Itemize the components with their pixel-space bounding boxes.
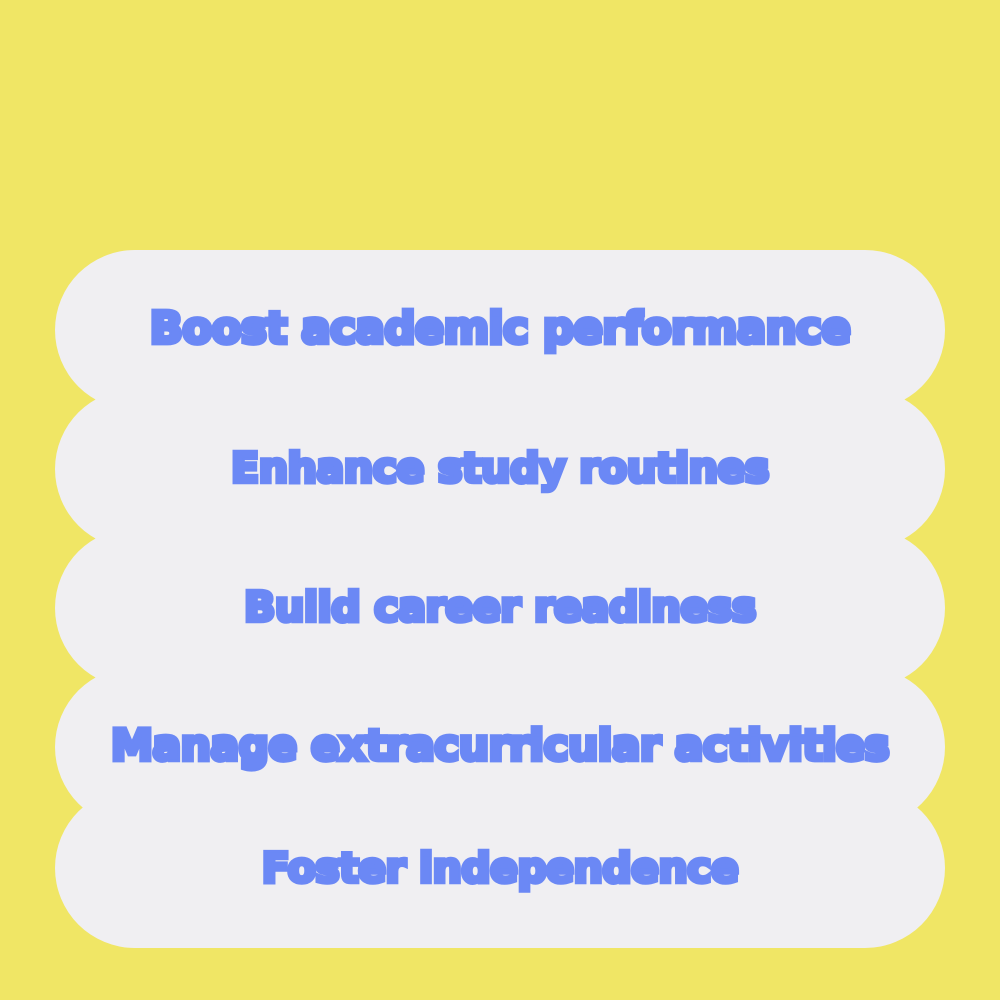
benefit-card-label: Boost academic performance: [150, 308, 851, 351]
benefit-card-label: Enhance study routines: [231, 448, 769, 489]
benefit-card-build-career-readiness[interactable]: Build career readiness: [55, 528, 945, 688]
benefit-card-enhance-study-routines[interactable]: Enhance study routines: [55, 389, 945, 549]
benefit-card-label: Manage extracurricular activities: [111, 726, 889, 768]
benefit-card-label: Build career readiness: [244, 587, 756, 628]
benefit-card-manage-extracurricular-activities[interactable]: Manage extracurricular activities: [55, 667, 945, 827]
benefit-card-label: Foster independence: [262, 848, 739, 889]
benefit-card-stack: Boost academic performance Enhance study…: [55, 250, 945, 948]
benefit-card-boost-academic-performance[interactable]: Boost academic performance: [55, 250, 945, 410]
poster-canvas: WHAT YOU'LL LEARN INSIDE Boost academic …: [0, 0, 1000, 1000]
